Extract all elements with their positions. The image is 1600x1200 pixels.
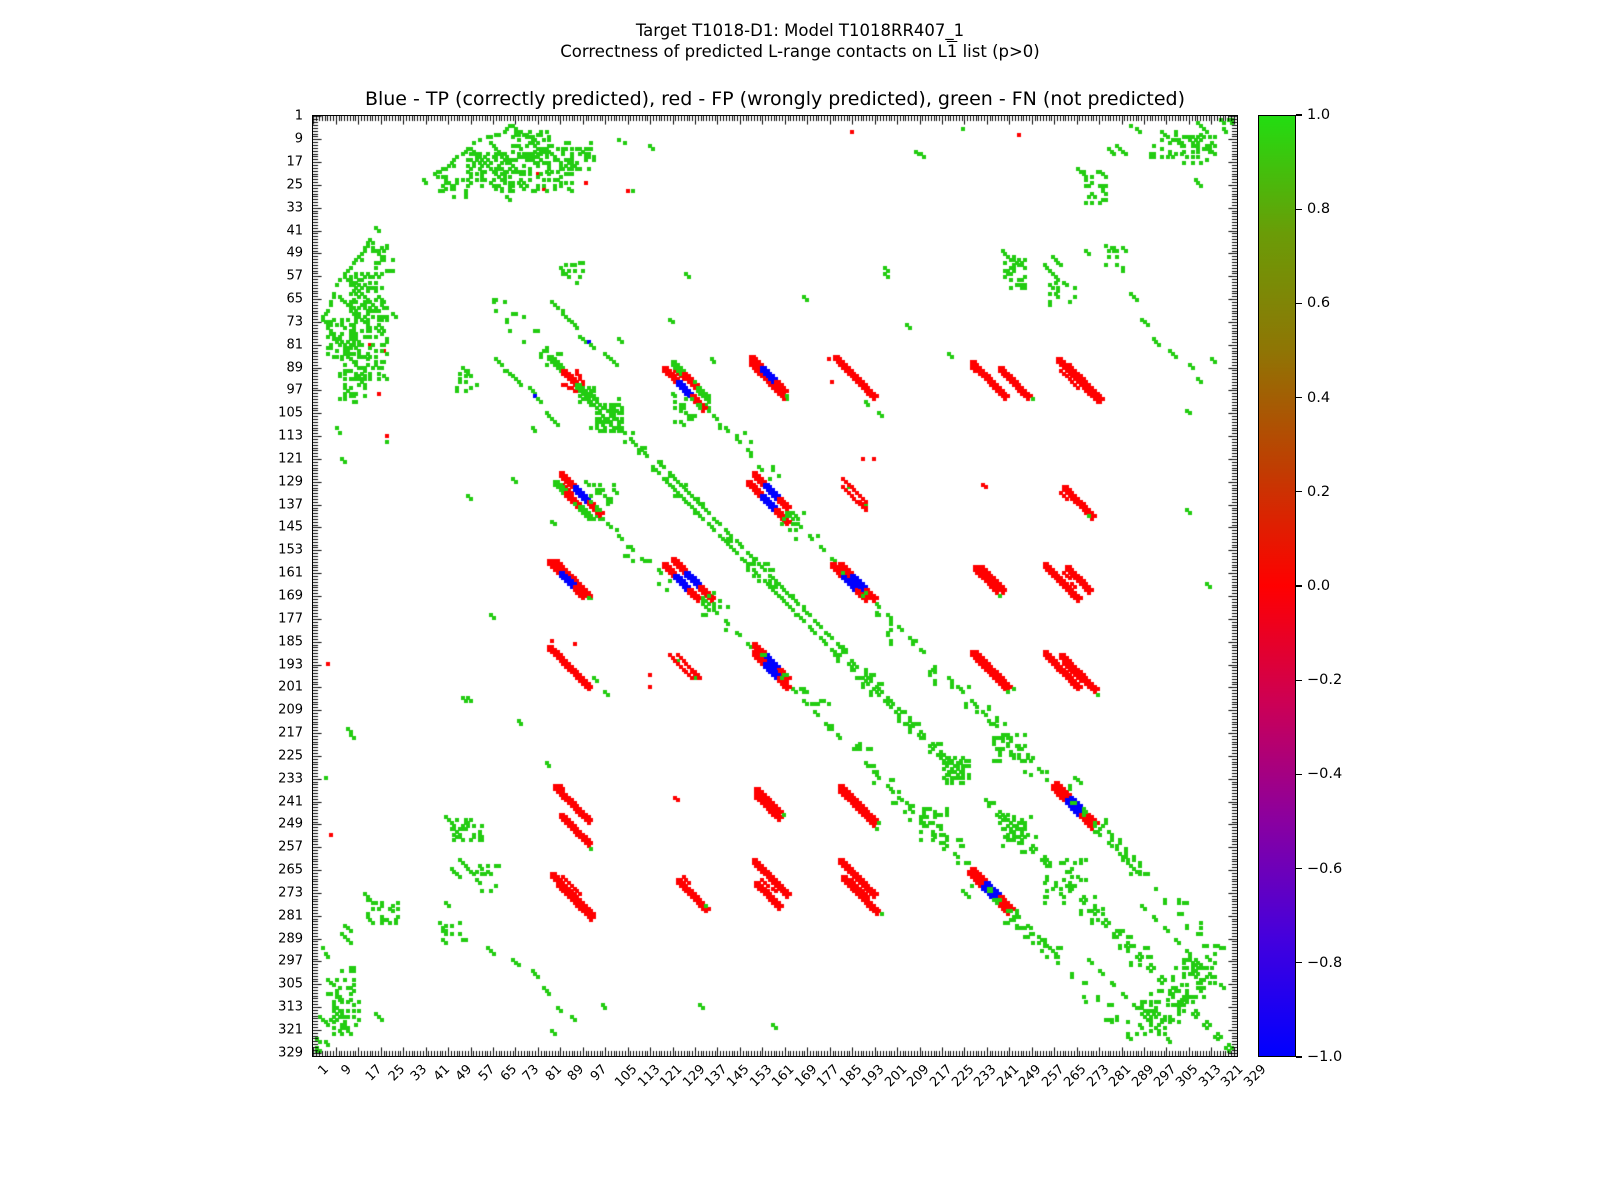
y-axis-tick-label: 185	[278, 634, 308, 649]
colorbar-tick-mark	[1296, 774, 1302, 775]
y-axis-tick-label: 193	[278, 657, 308, 672]
x-axis-tick-label: 329	[1241, 1062, 1269, 1090]
colorbar-tick-mark	[1296, 585, 1302, 586]
y-axis-tick-label: 65	[286, 292, 308, 307]
x-axis-tick-label: 9	[338, 1062, 354, 1078]
colorbar-tick-label: 0.6	[1307, 295, 1330, 311]
y-axis-tick-label: 129	[278, 474, 308, 489]
colorbar-tick-mark	[1296, 114, 1302, 115]
x-axis-tick-label: 105	[612, 1062, 640, 1090]
y-axis-tick-label: 73	[286, 314, 308, 329]
y-axis-tick-label: 209	[278, 703, 308, 718]
y-axis-tick-label: 329	[278, 1045, 308, 1060]
y-axis-tick-label: 321	[278, 1022, 308, 1037]
x-axis-tick-label: 41	[430, 1062, 452, 1084]
x-axis-tick-label: 81	[543, 1062, 565, 1084]
x-axis-tick-label: 97	[588, 1062, 610, 1084]
x-axis-tick-label: 89	[565, 1062, 587, 1084]
x-axis-tick-label: 145	[725, 1062, 753, 1090]
colorbar-container[interactable]	[1258, 115, 1296, 1057]
figure-title-block: Target T1018-D1: Model T1018RR407_1 Corr…	[0, 20, 1600, 63]
figure-title-line-2-overline: 1	[947, 42, 958, 61]
x-axis-tick-label: 193	[859, 1062, 887, 1090]
y-axis-tick-label: 1	[295, 109, 308, 124]
colorbar-tick-mark	[1296, 962, 1302, 963]
x-axis-tick-label: 289	[1129, 1062, 1157, 1090]
x-axis-tick-label: 209	[904, 1062, 932, 1090]
y-axis-tick-label: 281	[278, 908, 308, 923]
y-axis-tick-label: 25	[286, 177, 308, 192]
colorbar-tick-label: 0.8	[1307, 201, 1330, 217]
x-axis-tick-label: 177	[815, 1062, 843, 1090]
y-axis-tick-label: 161	[278, 566, 308, 581]
colorbar-gradient[interactable]	[1258, 115, 1296, 1057]
y-axis-tick-label: 177	[278, 611, 308, 626]
y-axis-tick-label: 17	[286, 155, 308, 170]
y-axis-tick-label: 105	[278, 406, 308, 421]
colorbar-tick-label: −0.6	[1307, 861, 1342, 877]
y-axis-tick-label: 33	[286, 200, 308, 215]
y-axis-tick-label: 169	[278, 588, 308, 603]
y-axis-tick-labels: 1917253341495765738189971051131211291371…	[240, 115, 308, 1057]
y-axis-tick-label: 249	[278, 817, 308, 832]
y-axis-tick-label: 145	[278, 520, 308, 535]
colorbar-tick-label: 0.0	[1307, 578, 1330, 594]
x-axis-tick-label: 73	[520, 1062, 542, 1084]
y-axis-tick-label: 57	[286, 269, 308, 284]
colorbar-tick-mark	[1296, 303, 1302, 304]
x-axis-tick-label: 25	[386, 1062, 408, 1084]
x-axis-tick-label: 305	[1174, 1062, 1202, 1090]
y-axis-tick-label: 289	[278, 931, 308, 946]
y-axis-tick-label: 113	[278, 429, 308, 444]
x-axis-tick-label: 33	[408, 1062, 430, 1084]
colorbar-tick-label: −0.2	[1307, 672, 1342, 688]
y-axis-tick-label: 233	[278, 771, 308, 786]
x-axis-tick-label: 281	[1106, 1062, 1134, 1090]
x-axis-tick-label: 161	[770, 1062, 798, 1090]
y-axis-tick-label: 81	[286, 337, 308, 352]
y-axis-tick-label: 225	[278, 748, 308, 763]
y-axis-tick-label: 97	[286, 383, 308, 398]
x-axis-tick-label: 65	[498, 1062, 520, 1084]
figure-title-line-2-suffix: list (p>0)	[957, 42, 1039, 61]
colorbar-tick-mark	[1296, 397, 1302, 398]
figure-title-line-2-prefix: Correctness of predicted L-range contact…	[560, 42, 947, 61]
y-axis-tick-label: 313	[278, 1000, 308, 1015]
y-axis-tick-label: 217	[278, 726, 308, 741]
colorbar-tick-mark	[1296, 209, 1302, 210]
contact-map-plot-area[interactable]	[312, 115, 1238, 1057]
y-axis-tick-label: 297	[278, 954, 308, 969]
x-axis-tick-label: 57	[475, 1062, 497, 1084]
y-axis-tick-label: 265	[278, 863, 308, 878]
axes-legend-title: Blue - TP (correctly predicted), red - F…	[312, 88, 1238, 110]
figure-title-line-2: Correctness of predicted L-range contact…	[0, 41, 1600, 62]
y-axis-tick-label: 49	[286, 246, 308, 261]
x-axis-tick-label: 249	[1017, 1062, 1045, 1090]
colorbar-tick-mark	[1296, 680, 1302, 681]
x-axis-tick-labels: 1917253341495765738189971051131211291371…	[312, 1062, 1238, 1152]
x-axis-tick-label: 265	[1061, 1062, 1089, 1090]
y-axis-tick-label: 273	[278, 885, 308, 900]
x-axis-tick-label: 233	[972, 1062, 1000, 1090]
colorbar-tick-label: −1.0	[1307, 1049, 1342, 1065]
figure-title-line-1: Target T1018-D1: Model T1018RR407_1	[0, 20, 1600, 41]
y-axis-tick-label: 41	[286, 223, 308, 238]
colorbar-tick-mark	[1296, 491, 1302, 492]
y-axis-tick-label: 89	[286, 360, 308, 375]
y-axis-tick-label: 257	[278, 840, 308, 855]
colorbar-tick-mark	[1296, 868, 1302, 869]
colorbar-tick-label: 0.4	[1307, 390, 1330, 406]
y-axis-tick-label: 241	[278, 794, 308, 809]
x-axis-tick-label: 121	[657, 1062, 685, 1090]
contact-map-canvas[interactable]	[313, 116, 1236, 1055]
colorbar-tick-label: −0.4	[1307, 766, 1342, 782]
x-axis-tick-label: 49	[453, 1062, 475, 1084]
colorbar-tick-label: 1.0	[1307, 107, 1330, 123]
y-axis-tick-label: 153	[278, 543, 308, 558]
y-axis-tick-label: 305	[278, 977, 308, 992]
colorbar-tick-labels: 1.00.80.60.40.20.0−0.2−0.4−0.6−0.8−1.0	[1296, 115, 1366, 1057]
x-axis-tick-label: 321	[1219, 1062, 1247, 1090]
y-axis-tick-label: 121	[278, 451, 308, 466]
y-axis-tick-label: 137	[278, 497, 308, 512]
x-axis-tick-label: 17	[363, 1062, 385, 1084]
colorbar-tick-label: −0.8	[1307, 955, 1342, 971]
colorbar-tick-label: 0.2	[1307, 484, 1330, 500]
x-axis-tick-label: 1	[316, 1062, 332, 1078]
colorbar-tick-mark	[1296, 1056, 1302, 1057]
y-axis-tick-label: 9	[295, 132, 308, 147]
x-axis-tick-label: 217	[927, 1062, 955, 1090]
y-axis-tick-label: 201	[278, 680, 308, 695]
